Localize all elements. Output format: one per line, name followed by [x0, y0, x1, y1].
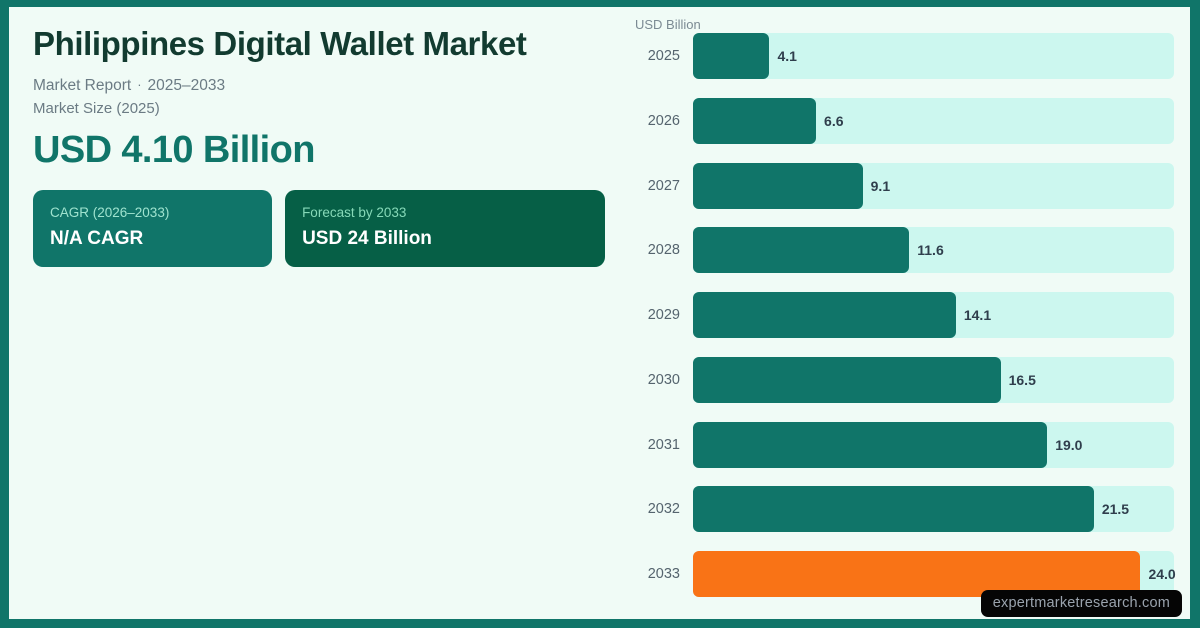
- chart-bar-value-label: 19.0: [1055, 437, 1082, 453]
- chart-bar-track: 21.5: [693, 486, 1174, 532]
- chart-row: 202811.6: [625, 227, 1174, 273]
- market-size-value: USD 4.10 Billion: [33, 130, 605, 172]
- kpi-cagr-value: N/A CAGR: [50, 228, 255, 251]
- chart-bar-track: 6.6: [693, 98, 1174, 144]
- chart-bar-track: 11.6: [693, 227, 1174, 273]
- chart-year-label: 2030: [625, 372, 693, 388]
- chart-row: 203119.0: [625, 422, 1174, 468]
- kpi-card-forecast: Forecast by 2033 USD 24 Billion: [285, 190, 605, 267]
- chart-row: 203016.5: [625, 357, 1174, 403]
- market-size-label: Market Size (2025): [33, 98, 605, 119]
- chart-bar: [693, 357, 1001, 403]
- kpi-card-cagr: CAGR (2026–2033) N/A CAGR: [33, 190, 272, 267]
- chart-year-label: 2028: [625, 242, 693, 258]
- chart-year-label: 2031: [625, 437, 693, 453]
- chart-bar: [693, 486, 1094, 532]
- chart-bar-value-label: 24.0: [1148, 566, 1175, 582]
- chart-year-label: 2033: [625, 566, 693, 582]
- chart-year-label: 2025: [625, 48, 693, 64]
- chart-bar-value-label: 16.5: [1009, 372, 1036, 388]
- chart-bar-value-label: 6.6: [824, 113, 843, 129]
- chart-rows: 20254.120266.620279.1202811.6202914.1203…: [625, 33, 1174, 597]
- watermark-badge: expertmarketresearch.com: [981, 590, 1182, 617]
- chart-bar-track: 9.1: [693, 163, 1174, 209]
- chart-bar-value-label: 4.1: [777, 48, 796, 64]
- chart-year-label: 2027: [625, 178, 693, 194]
- chart-row: 203221.5: [625, 486, 1174, 532]
- chart-bar: [693, 33, 769, 79]
- chart-bar: [693, 422, 1047, 468]
- chart-year-label: 2026: [625, 113, 693, 129]
- chart-bar: [693, 163, 863, 209]
- poster-frame: Philippines Digital Wallet Market Market…: [0, 0, 1200, 628]
- kpi-cagr-label: CAGR (2026–2033): [50, 204, 255, 222]
- subtitle-separator: ·: [131, 77, 147, 92]
- chart-bar-track: 16.5: [693, 357, 1174, 403]
- report-subtitle: Market Report·2025–2033: [33, 75, 605, 97]
- chart-year-label: 2032: [625, 501, 693, 517]
- page-title: Philippines Digital Wallet Market: [33, 25, 605, 64]
- poster-canvas: Philippines Digital Wallet Market Market…: [9, 7, 1190, 619]
- chart-row: 20279.1: [625, 163, 1174, 209]
- chart-row: 20254.1: [625, 33, 1174, 79]
- chart-row: 20266.6: [625, 98, 1174, 144]
- chart-bar-track: 19.0: [693, 422, 1174, 468]
- chart-bar: [693, 227, 909, 273]
- chart-axis-unit-label: USD Billion: [635, 17, 701, 32]
- chart-bar: [693, 98, 816, 144]
- chart-year-label: 2029: [625, 307, 693, 323]
- chart-bar-track: 14.1: [693, 292, 1174, 338]
- chart-row: 202914.1: [625, 292, 1174, 338]
- report-type-label: Market Report: [33, 77, 131, 94]
- chart-bar: [693, 292, 956, 338]
- summary-panel: Philippines Digital Wallet Market Market…: [9, 7, 625, 619]
- kpi-forecast-value: USD 24 Billion: [302, 228, 588, 251]
- kpi-forecast-label: Forecast by 2033: [302, 204, 588, 222]
- forecast-bar-chart: USD Billion 20254.120266.620279.1202811.…: [625, 7, 1190, 619]
- chart-bar-value-label: 21.5: [1102, 501, 1129, 517]
- chart-bar-value-label: 14.1: [964, 307, 991, 323]
- chart-bar-value-label: 11.6: [917, 242, 943, 258]
- chart-bar-track: 4.1: [693, 33, 1174, 79]
- report-period-label: 2025–2033: [148, 77, 226, 94]
- kpi-card-group: CAGR (2026–2033) N/A CAGR Forecast by 20…: [33, 190, 605, 267]
- chart-bar-value-label: 9.1: [871, 178, 890, 194]
